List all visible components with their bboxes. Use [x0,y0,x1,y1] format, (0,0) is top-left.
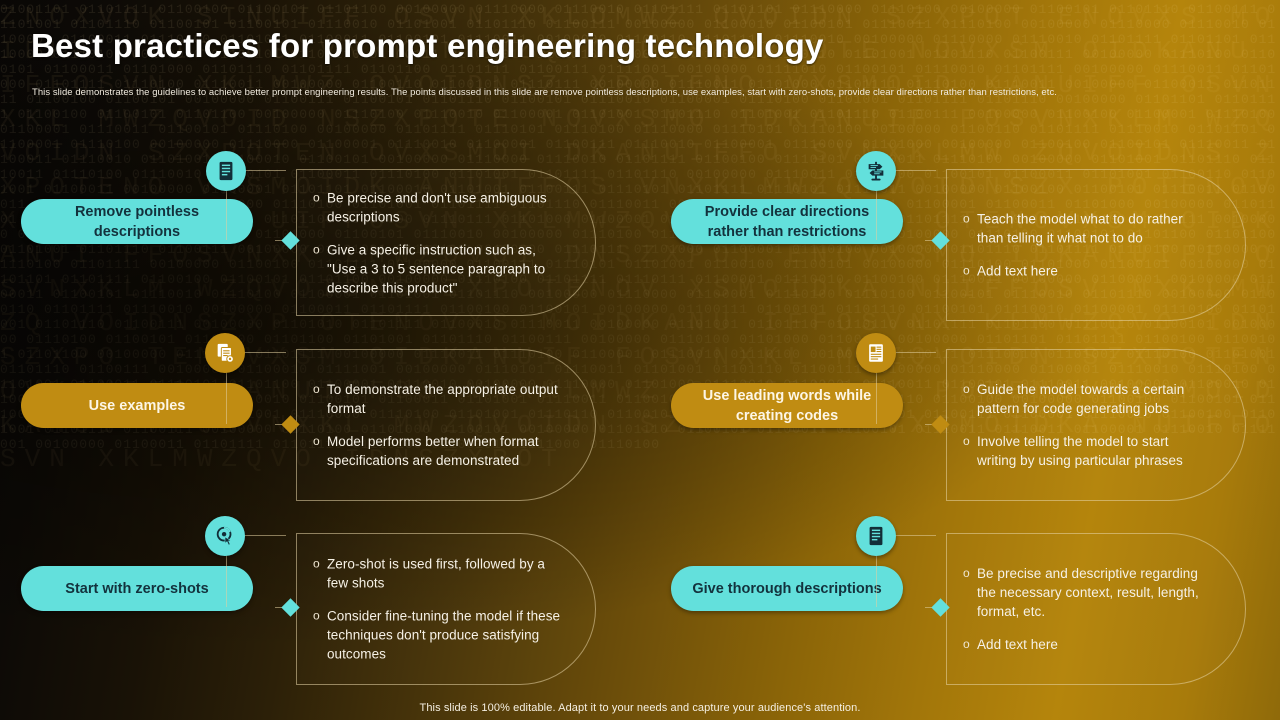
target-click-icon [205,516,245,556]
list-item-text: Model performs better when format specif… [327,432,561,470]
topic-pill[interactable]: Use examples [21,383,253,428]
detail-card: o Be precise and don't use ambiguous des… [296,169,596,316]
document-list-glyph [215,160,237,182]
slide-canvas: ZNOXVOK SINUIFF OSVN XKLOMWZ QVOIDN SZXP… [0,0,1280,720]
list-item-text: Guide the model towards a certain patter… [977,380,1211,418]
list-item: o Be precise and descriptive regarding t… [963,564,1211,621]
list-item-text: Involve telling the model to start writi… [977,432,1211,470]
footer-note: This slide is 100% editable. Adapt it to… [0,702,1280,714]
topic-pill-label: Remove pointless descriptions [35,202,239,242]
bullet-marker: o [313,380,327,399]
detail-card: o Guide the model towards a certain patt… [946,349,1246,501]
list-item-text: Add text here [977,635,1058,654]
list-item: o Zero-shot is used first, followed by a… [313,555,561,593]
bullet-marker: o [963,380,977,399]
signpost-glyph [865,160,887,182]
bullet-marker: o [313,432,327,451]
list-item-text: Zero-shot is used first, followed by a f… [327,555,561,593]
bullet-marker: o [963,210,977,229]
list-item: o Guide the model towards a certain patt… [963,380,1211,418]
document-lines-glyph [865,525,887,547]
bullet-marker: o [963,432,977,451]
topic-pill-label: Use examples [89,396,186,416]
list-item: o Model performs better when format spec… [313,432,561,470]
topic-pill[interactable]: Remove pointless descriptions [21,199,253,244]
detail-card: o Teach the model what to do rather than… [946,169,1246,321]
list-item-text: Be precise and descriptive regarding the… [977,564,1211,621]
list-item: o Add text here [963,262,1211,281]
document-lines-icon [856,516,896,556]
list-item-text: Consider fine-tuning the model if these … [327,607,561,664]
detail-card: o Zero-shot is used first, followed by a… [296,533,596,685]
topic-pill-label: Give thorough descriptions [692,579,881,599]
list-item-text: Add text here [977,262,1058,281]
topic-pill[interactable]: Give thorough descriptions [671,566,903,611]
list-item: o Be precise and don't use ambiguous des… [313,188,561,226]
documents-gear-glyph [214,342,236,364]
page-subtitle: This slide demonstrates the guidelines t… [32,86,1227,100]
list-item-text: Give a specific instruction such as, "Us… [327,240,561,297]
list-item-text: Be precise and don't use ambiguous descr… [327,188,561,226]
topic-pill[interactable]: Provide clear directions rather than res… [671,199,903,244]
bullet-marker: o [963,262,977,281]
detail-card: o To demonstrate the appropriate output … [296,349,596,501]
bullet-marker: o [313,240,327,259]
bullet-marker: o [313,555,327,574]
bullet-marker: o [313,607,327,626]
topic-pill-label: Provide clear directions rather than res… [685,202,889,242]
list-item: o Give a specific instruction such as, "… [313,240,561,297]
list-item-text: To demonstrate the appropriate output fo… [327,380,561,418]
topic-pill[interactable]: Use leading words while creating codes [671,383,903,428]
documents-gear-icon [205,333,245,373]
topic-pill[interactable]: Start with zero-shots [21,566,253,611]
detail-card: o Be precise and descriptive regarding t… [946,533,1246,685]
bullet-marker: o [963,635,977,654]
page-title: Best practices for prompt engineering te… [31,27,824,65]
document-list-icon [206,151,246,191]
list-item: o Consider fine-tuning the model if thes… [313,607,561,664]
bullet-marker: o [963,564,977,583]
topic-pill-label: Use leading words while creating codes [685,386,889,426]
document-text-glyph [865,342,887,364]
signpost-icon [856,151,896,191]
bullet-marker: o [313,188,327,207]
list-item-text: Teach the model what to do rather than t… [977,210,1211,248]
topic-pill-label: Start with zero-shots [65,579,208,599]
list-item: o Teach the model what to do rather than… [963,210,1211,248]
document-text-icon [856,333,896,373]
list-item: o Add text here [963,635,1211,654]
target-click-glyph [214,525,236,547]
list-item: o To demonstrate the appropriate output … [313,380,561,418]
list-item: o Involve telling the model to start wri… [963,432,1211,470]
